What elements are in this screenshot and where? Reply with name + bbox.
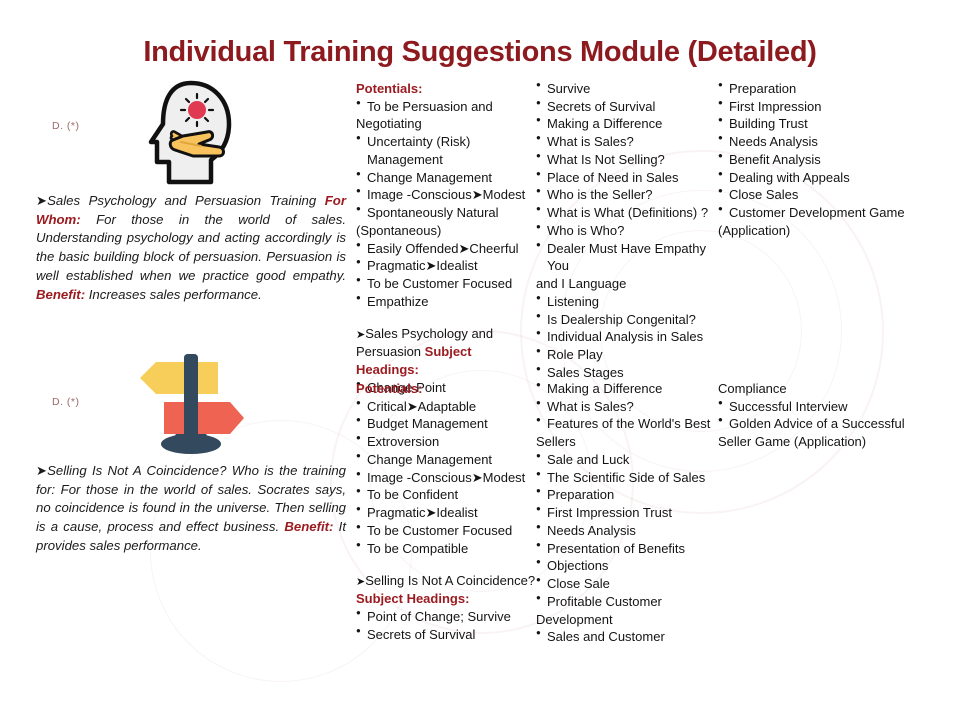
list-item: Dealing with Appeals	[718, 169, 930, 187]
list-item: Successful Interview	[718, 398, 930, 416]
list-item: Who is the Seller?	[536, 186, 718, 204]
blurb-highlight-benefit: Benefit:	[284, 519, 333, 534]
list-item: Image -Conscious➤Modest	[356, 186, 536, 204]
list-item: Pragmatic➤Idealist	[356, 504, 536, 522]
list-item: Critical➤Adaptable	[356, 398, 536, 416]
arrow-marker: ➤	[36, 463, 47, 478]
list-item: Role Play	[536, 346, 718, 364]
list-item: Image -Conscious➤Modest	[356, 469, 536, 487]
panel-sales-psychology: D. (*) ➤Sales Psychology and Persuasion …	[36, 78, 346, 304]
list-item: Sales Stages	[536, 364, 718, 382]
list-item: Making a Difference	[536, 380, 718, 398]
panel-selling-not-coincidence: D. (*) ➤Selling Is Not A Coincidence? Wh…	[36, 352, 346, 556]
list-item: Presentation of Benefits	[536, 540, 718, 558]
list-item: and I Language	[536, 275, 718, 293]
subject-headings-list: ComplianceSuccessful InterviewGolden Adv…	[718, 380, 930, 451]
list-item: What is Sales?	[536, 398, 718, 416]
section-2-column-a: Potentials: Critical➤AdaptableBudget Man…	[356, 380, 536, 643]
list-item: Change Management	[356, 451, 536, 469]
list-item: Benefit Analysis	[718, 151, 930, 169]
list-item: Sales and Customer	[536, 628, 718, 646]
list-item: Needs Analysis	[718, 133, 930, 151]
arrow-marker: ➤	[36, 193, 47, 208]
section-1-column-a: Potentials: To be Persuasion andNegotiat…	[356, 80, 536, 397]
list-item: Customer Development Game	[718, 204, 930, 222]
subject-headings-list: SurviveSecrets of SurvivalMaking a Diffe…	[536, 80, 718, 381]
list-item: Who is Who?	[536, 222, 718, 240]
panel-description: ➤Sales Psychology and Persuasion Trainin…	[36, 192, 346, 304]
subhead-plain: Selling Is Not A Coincidence?	[365, 573, 535, 588]
arrow-marker: ➤	[356, 329, 365, 341]
list-item: (Application)	[718, 222, 930, 240]
list-item: Extroversion	[356, 433, 536, 451]
section-1-column-b: SurviveSecrets of SurvivalMaking a Diffe…	[536, 80, 718, 381]
list-item: Change Management	[356, 169, 536, 187]
list-item: Features of the World's Best	[536, 415, 718, 433]
list-item: (Spontaneous)	[356, 222, 536, 240]
list-item: Listening	[536, 293, 718, 311]
section-2-column-b: Making a DifferenceWhat is Sales?Feature…	[536, 380, 718, 646]
page-title: Individual Training Suggestions Module (…	[0, 36, 960, 69]
list-item: Close Sales	[718, 186, 930, 204]
list-item: Development	[536, 611, 718, 629]
list-item: Seller Game (Application)	[718, 433, 930, 451]
list-heading-potentials: Potentials:	[356, 80, 536, 98]
list-item: Objections	[536, 557, 718, 575]
blurb-highlight-benefit: Benefit:	[36, 287, 85, 302]
list-item: Easily Offended➤Cheerful	[356, 240, 536, 258]
list-item: Compliance	[718, 380, 930, 398]
list-item: Place of Need in Sales	[536, 169, 718, 187]
list-item: What is What (Definitions) ?	[536, 204, 718, 222]
blurb-lead: Sales Psychology and Persuasion Training	[47, 193, 325, 208]
panel-tag: D. (*)	[52, 396, 80, 408]
list-item: Golden Advice of a Successful	[718, 415, 930, 433]
list-item: To be Customer Focused	[356, 522, 536, 540]
subject-headings-label: ➤Sales Psychology and Persuasion Subject…	[356, 325, 536, 378]
list-item: Preparation	[536, 486, 718, 504]
potentials-list: To be Persuasion andNegotiatingUncertain…	[356, 98, 536, 311]
signpost-two-direction-arrows-icon	[132, 352, 250, 456]
list-item: Negotiating	[356, 115, 536, 133]
list-item: Individual Analysis in Sales	[536, 328, 718, 346]
list-heading-potentials: Potentials:	[356, 380, 536, 398]
list-item: Pragmatic➤Idealist	[356, 257, 536, 275]
list-item: To be Persuasion and	[356, 98, 536, 116]
list-item: To be Compatible	[356, 540, 536, 558]
list-item: To be Customer Focused	[356, 275, 536, 293]
list-item: Building Trust	[718, 115, 930, 133]
list-item: Is Dealership Congenital?	[536, 311, 718, 329]
list-item: Dealer Must Have Empathy You	[536, 240, 718, 275]
section-2-column-c: ComplianceSuccessful InterviewGolden Adv…	[718, 380, 930, 451]
list-item: Budget Management	[356, 415, 536, 433]
list-item: Empathize	[356, 293, 536, 311]
list-item: What Is Not Selling?	[536, 151, 718, 169]
list-item: Sale and Luck	[536, 451, 718, 469]
list-item: Secrets of Survival	[356, 626, 536, 644]
subject-headings-list: Making a DifferenceWhat is Sales?Feature…	[536, 380, 718, 646]
list-item: Secrets of Survival	[536, 98, 718, 116]
potentials-list: Critical➤AdaptableBudget ManagementExtro…	[356, 398, 536, 558]
list-item: Preparation	[718, 80, 930, 98]
blurb-body-1: For those in the world of sales. Underst…	[36, 212, 346, 283]
blurb-body-2: Increases sales performance.	[85, 287, 262, 302]
subhead-red: Subject Headings:	[356, 591, 469, 606]
list-item: First Impression	[718, 98, 930, 116]
list-item: Spontaneously Natural	[356, 204, 536, 222]
list-item: Making a Difference	[536, 115, 718, 133]
head-with-sun-and-hand-icon	[139, 78, 243, 186]
list-item: Uncertainty (Risk) Management	[356, 133, 536, 168]
list-item: Close Sale	[536, 575, 718, 593]
list-item: To be Confident	[356, 486, 536, 504]
document-page: Individual Training Suggestions Module (…	[0, 0, 960, 720]
arrow-marker: ➤	[356, 576, 365, 588]
section-1-column-c: PreparationFirst ImpressionBuilding Trus…	[718, 80, 930, 240]
list-item: Point of Change; Survive	[356, 608, 536, 626]
list-item: What is Sales?	[536, 133, 718, 151]
panel-tag: D. (*)	[52, 120, 80, 132]
subject-headings-label: ➤Selling Is Not A Coincidence? Subject H…	[356, 572, 536, 608]
list-item: The Scientific Side of Sales	[536, 469, 718, 487]
list-item: Survive	[536, 80, 718, 98]
panel-description: ➤Selling Is Not A Coincidence? Who is th…	[36, 462, 346, 556]
list-item: Profitable Customer	[536, 593, 718, 611]
subject-headings-list: PreparationFirst ImpressionBuilding Trus…	[718, 80, 930, 240]
list-item: First Impression Trust	[536, 504, 718, 522]
list-item: Sellers	[536, 433, 718, 451]
list-item: Needs Analysis	[536, 522, 718, 540]
subject-headings-list: Point of Change; SurviveSecrets of Survi…	[356, 608, 536, 643]
